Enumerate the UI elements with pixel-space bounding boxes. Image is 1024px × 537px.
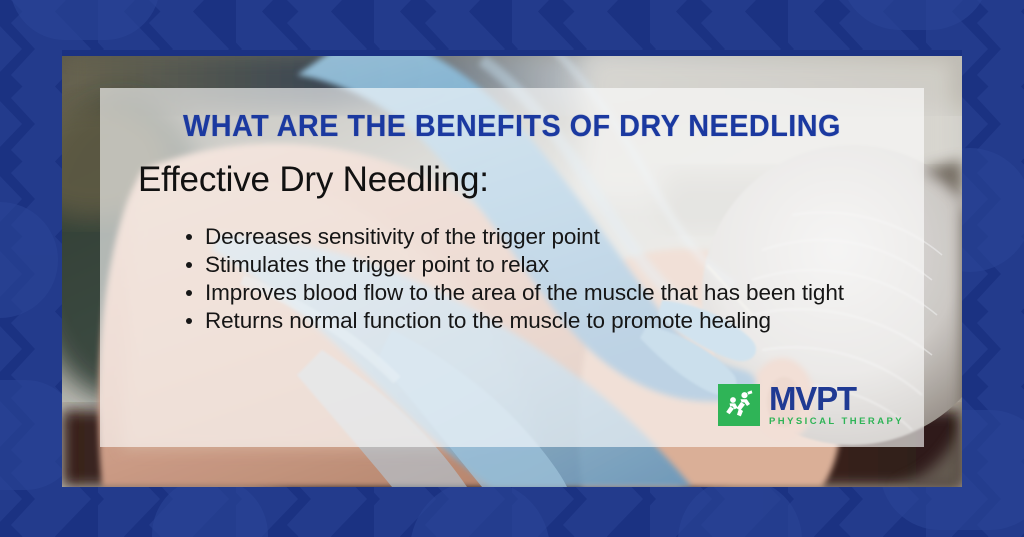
- list-item: Stimulates the trigger point to relax: [184, 251, 884, 278]
- poster-canvas: WHAT ARE THE BENEFITS OF DRY NEEDLING Ef…: [0, 0, 1024, 537]
- running-figure-icon: [718, 384, 760, 426]
- logo-wordmark: MVPT: [769, 384, 904, 414]
- mvpt-logo[interactable]: MVPT PHYSICAL THERAPY: [718, 384, 904, 427]
- section-subtitle: Effective Dry Needling:: [138, 160, 489, 200]
- logo-text-block: MVPT PHYSICAL THERAPY: [769, 384, 904, 427]
- page-title: WHAT ARE THE BENEFITS OF DRY NEEDLING: [129, 108, 895, 144]
- list-item: Decreases sensitivity of the trigger poi…: [184, 223, 884, 250]
- benefits-list: Decreases sensitivity of the trigger poi…: [184, 223, 884, 335]
- list-item: Returns normal function to the muscle to…: [184, 307, 884, 334]
- logo-tagline: PHYSICAL THERAPY: [769, 417, 904, 427]
- photo-top-strip: [62, 50, 962, 56]
- list-item: Improves blood flow to the area of the m…: [184, 279, 884, 306]
- content-panel: WHAT ARE THE BENEFITS OF DRY NEEDLING Ef…: [100, 88, 924, 447]
